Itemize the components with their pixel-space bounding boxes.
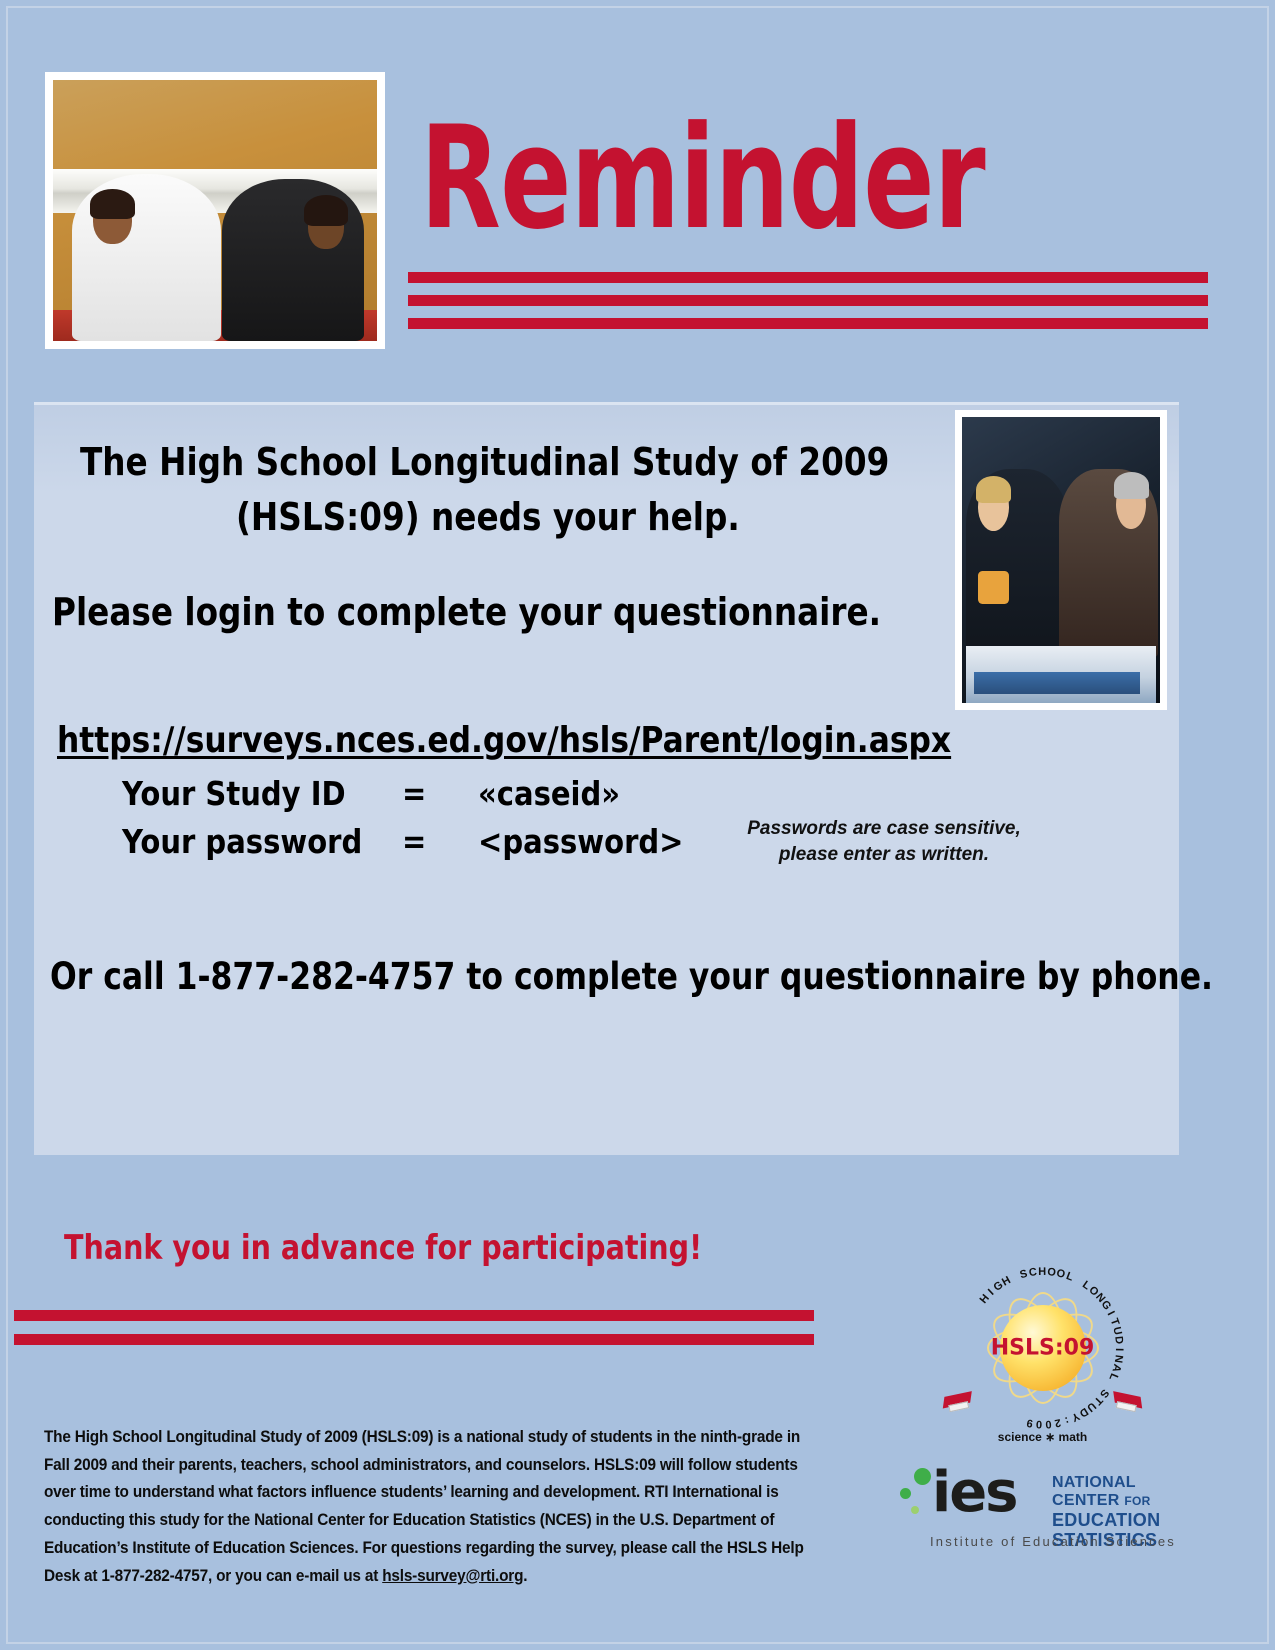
- header-rule-3: [408, 318, 1208, 329]
- photo-grandfather-hair: [1114, 472, 1150, 498]
- password-case-note: Passwords are case sensitive, please ent…: [744, 816, 1024, 867]
- study-id-value: «caseid»: [478, 774, 620, 813]
- survey-login-link[interactable]: https://surveys.nces.ed.gov/hsls/Parent/…: [57, 720, 951, 761]
- footer-disclaimer: The High School Longitudinal Study of 20…: [44, 1424, 807, 1590]
- hero-photo-frame: [45, 72, 385, 349]
- photo-book-page: [974, 672, 1140, 695]
- headline-line-3: Please login to complete your questionna…: [52, 590, 881, 634]
- logo-ring-char: H: [1038, 1265, 1046, 1277]
- header-rule-1: [408, 272, 1208, 283]
- boy-and-grandfather-reading-photo: [962, 417, 1160, 703]
- nces-line-1-for: FOR: [1124, 1494, 1150, 1508]
- ies-dot-medium: [900, 1488, 911, 1499]
- photo-boy-figure: [966, 469, 1069, 652]
- ies-dot-small: [911, 1506, 919, 1514]
- footer-rule-group: [14, 1310, 814, 1358]
- password-label: Your password: [122, 822, 377, 861]
- flyer-page: Reminder The High School Longitudinal St…: [0, 0, 1275, 1650]
- password-note-line-1: Passwords are case sensitive,: [744, 816, 1024, 842]
- logo-ring-char: 0: [1044, 1417, 1051, 1429]
- ies-tagline: Institute of Education Sciences: [930, 1534, 1176, 1549]
- footer-disclaimer-body: The High School Longitudinal Study of 20…: [44, 1428, 804, 1585]
- logo-ring-char: I: [1112, 1347, 1124, 1350]
- photo-daughter-hair: [304, 195, 348, 226]
- photo-grandfather-figure: [1059, 469, 1158, 658]
- ies-dot-large: [914, 1468, 931, 1485]
- headline-line-1: The High School Longitudinal Study of 20…: [80, 440, 889, 484]
- ies-wordmark: ies: [932, 1460, 1017, 1525]
- panel-photo-frame: [955, 410, 1167, 710]
- photo-mother-figure: [72, 174, 221, 341]
- password-equals: =: [402, 822, 426, 861]
- logo-tagline: science ∗ math: [998, 1430, 1087, 1444]
- photo-boy-hair: [976, 476, 1011, 503]
- help-desk-email-link[interactable]: hsls-survey@rti.org: [382, 1567, 523, 1585]
- ies-dots-icon: [900, 1468, 934, 1520]
- logo-center-label: HSLS:09: [991, 1335, 1095, 1360]
- logo-ring-char: T: [1107, 1316, 1121, 1326]
- study-id-label: Your Study ID: [122, 774, 377, 813]
- mother-and-daughter-photo: [53, 80, 377, 341]
- logo-ring-char: D: [1112, 1335, 1125, 1344]
- thank-you-message: Thank you in advance for participating!: [64, 1228, 702, 1268]
- headline-line-2: (HSLS:09) needs your help.: [236, 495, 740, 539]
- photo-daughter-figure: [222, 179, 365, 341]
- logo-ring-char: 0: [1035, 1417, 1042, 1429]
- logo-ring-char: 9: [1025, 1416, 1033, 1429]
- logo-ring-char: H: [977, 1292, 991, 1306]
- footer-disclaimer-period: .: [523, 1567, 527, 1585]
- hsls-study-logo: HIGH SCHOOL LONGITUDINAL STUDY:2009 HSLS…: [940, 1265, 1145, 1430]
- logo-ring-char: O: [1046, 1266, 1056, 1279]
- logo-ring-char: 2: [1053, 1416, 1061, 1429]
- logo-ring-char: C: [1028, 1266, 1037, 1279]
- nces-line-1: NATIONAL CENTER FOR: [1052, 1474, 1190, 1510]
- logo-ring-char: :: [1063, 1413, 1070, 1426]
- logo-ring-char: N: [1111, 1354, 1124, 1364]
- password-value: <password>: [478, 822, 684, 861]
- phone-instruction: Or call 1-877-282-4757 to complete your …: [50, 955, 1213, 998]
- ies-logo: ies NATIONAL CENTER FOR EDUCATION STATIS…: [900, 1462, 1190, 1562]
- header-rule-2: [408, 295, 1208, 306]
- footer-rule-1: [14, 1310, 814, 1321]
- header-rule-group: [408, 272, 1208, 341]
- photo-boy-shirt-graphic: [978, 571, 1009, 604]
- password-note-line-2: please enter as written.: [744, 842, 1024, 868]
- page-title: Reminder: [420, 108, 985, 250]
- footer-rule-2: [14, 1334, 814, 1345]
- study-id-equals: =: [402, 774, 426, 813]
- photo-mother-hair: [90, 189, 135, 219]
- logo-ring-char: S: [1018, 1267, 1028, 1280]
